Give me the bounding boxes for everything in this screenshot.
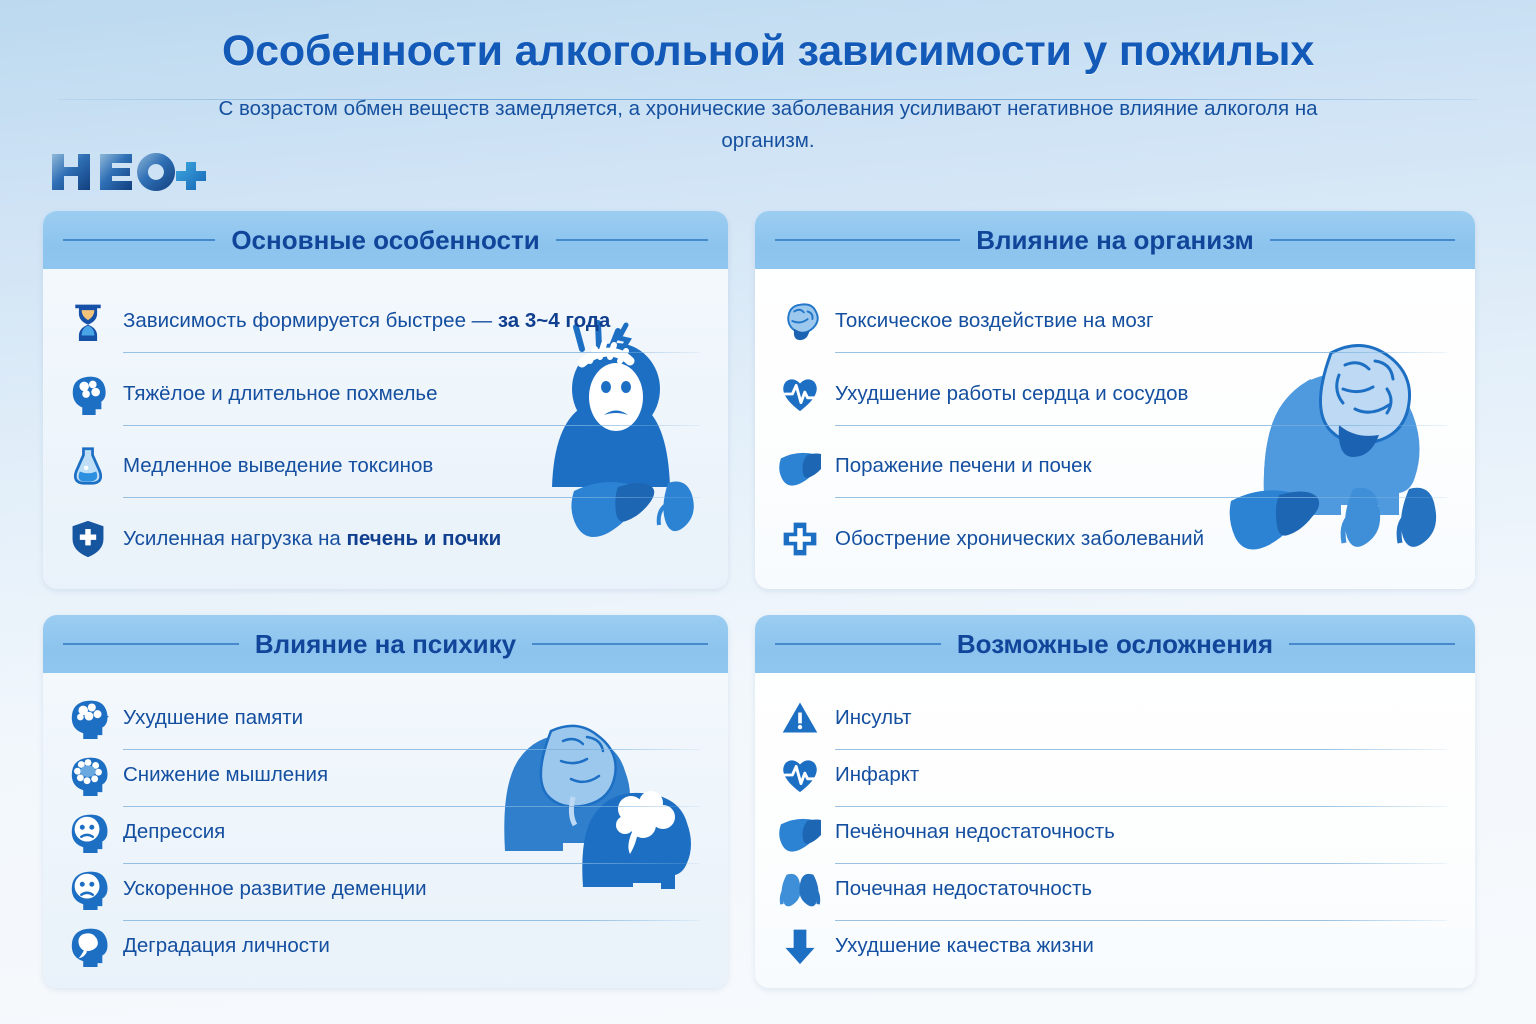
card-body: Ухудшение памяти Снижение мышления bbox=[43, 673, 728, 988]
kidneys-icon bbox=[777, 866, 823, 912]
list-item[interactable]: Депрессия bbox=[65, 804, 706, 860]
list-item-label: Ухудшение памяти bbox=[123, 705, 303, 731]
card-title: Влияние на психику bbox=[255, 629, 516, 660]
list-item[interactable]: Снижение мышления bbox=[65, 747, 706, 803]
list-item-label: Ухудшение качества жизни bbox=[835, 933, 1094, 959]
card-body-impact: Влияние на организм bbox=[755, 211, 1475, 589]
head-thinking-icon bbox=[65, 752, 111, 798]
card-title: Основные особенности bbox=[231, 225, 539, 256]
list-item-label: Медленное выведение токсинов bbox=[123, 453, 433, 479]
hourglass-icon bbox=[65, 298, 111, 344]
card-title: Возможные осложнения bbox=[957, 629, 1273, 660]
header-rule-right bbox=[1270, 239, 1455, 241]
warning-icon bbox=[777, 695, 823, 741]
head-sad-icon bbox=[65, 809, 111, 855]
list-item[interactable]: Ухудшение памяти bbox=[65, 690, 706, 746]
head-hangover-icon bbox=[65, 371, 111, 417]
list-item[interactable]: Печёночная недостаточность bbox=[777, 804, 1453, 860]
card-header: Влияние на организм bbox=[755, 211, 1475, 269]
heart-pulse-icon bbox=[777, 371, 823, 417]
list-item-label: Инсульт bbox=[835, 705, 912, 731]
card-header: Возможные осложнения bbox=[755, 615, 1475, 673]
list-item[interactable]: Ухудшение работы сердца и сосудов bbox=[777, 366, 1453, 422]
flask-icon bbox=[65, 443, 111, 489]
list-item-label: Обострение хронических заболеваний bbox=[835, 526, 1204, 552]
page-subtitle: С возрастом обмен веществ замедляется, а… bbox=[178, 93, 1358, 157]
head-degradation-icon bbox=[65, 923, 111, 969]
list-item-label: Ускоренное развитие деменции bbox=[123, 876, 427, 902]
list-item-label: Снижение мышления bbox=[123, 762, 328, 788]
card-psyche-impact: Влияние на психику bbox=[43, 615, 728, 988]
list-item[interactable]: Ухудшение качества жизни bbox=[777, 918, 1453, 974]
liver-icon bbox=[777, 443, 823, 489]
list-item[interactable]: Ускоренное развитие деменции bbox=[65, 861, 706, 917]
head-dementia-icon bbox=[65, 866, 111, 912]
list-item[interactable]: Инсульт bbox=[777, 690, 1453, 746]
header-rule-left bbox=[63, 643, 239, 645]
list-item[interactable]: Зависимость формируется быстрее — за 3~4… bbox=[65, 293, 706, 349]
row-divider bbox=[835, 352, 1447, 353]
list-item[interactable]: Обострение хронических заболеваний bbox=[777, 511, 1453, 567]
row-divider bbox=[835, 425, 1447, 426]
liver-icon bbox=[777, 809, 823, 855]
list-item[interactable]: Тяжёлое и длительное похмелье bbox=[65, 366, 706, 422]
list-item-label: Усиленная нагрузка на печень и почки bbox=[123, 526, 501, 552]
list-item-label: Почечная недостаточность bbox=[835, 876, 1092, 902]
cross-icon bbox=[777, 516, 823, 562]
list-item-label: Ухудшение работы сердца и сосудов bbox=[835, 381, 1188, 407]
header-rule-right bbox=[532, 643, 708, 645]
header-rule-left bbox=[63, 239, 215, 241]
header-rule-left bbox=[775, 643, 941, 645]
cards-grid: Основные особенности bbox=[43, 211, 1475, 1001]
heart-pulse-icon bbox=[777, 752, 823, 798]
card-body: Токсическое воздействие на мозг Ухудшени… bbox=[755, 269, 1475, 589]
card-main-features: Основные особенности bbox=[43, 211, 728, 589]
row-divider bbox=[123, 425, 700, 426]
list-item-label: Токсическое воздействие на мозг bbox=[835, 308, 1153, 334]
list-item-label: Зависимость формируется быстрее — за 3~4… bbox=[123, 308, 610, 334]
neo-logo-icon bbox=[46, 146, 206, 198]
list-item[interactable]: Деградация личности bbox=[65, 918, 706, 974]
head-memory-icon bbox=[65, 695, 111, 741]
neo-logo bbox=[46, 146, 206, 198]
title-divider bbox=[58, 99, 1478, 100]
list-item[interactable]: Поражение печени и почек bbox=[777, 438, 1453, 494]
list-item[interactable]: Токсическое воздействие на мозг bbox=[777, 293, 1453, 349]
page-title: Особенности алкогольной зависимости у по… bbox=[0, 0, 1536, 75]
card-body: Инсульт Инфаркт bbox=[755, 673, 1475, 988]
list-item[interactable]: Медленное выведение токсинов bbox=[65, 438, 706, 494]
header-rule-right bbox=[556, 239, 708, 241]
list-item[interactable]: Почечная недостаточность bbox=[777, 861, 1453, 917]
card-possible-complications: Возможные осложнения Инсульт bbox=[755, 615, 1475, 988]
list-item[interactable]: Усиленная нагрузка на печень и почки bbox=[65, 511, 706, 567]
header-rule-right bbox=[1289, 643, 1455, 645]
list-item-label: Тяжёлое и длительное похмелье bbox=[123, 381, 438, 407]
card-title: Влияние на организм bbox=[976, 225, 1253, 256]
list-item-label: Поражение печени и почек bbox=[835, 453, 1092, 479]
list-item-label: Депрессия bbox=[123, 819, 225, 845]
list-item[interactable]: Инфаркт bbox=[777, 747, 1453, 803]
list-item-label: Инфаркт bbox=[835, 762, 919, 788]
row-divider bbox=[123, 497, 700, 498]
row-divider bbox=[835, 497, 1447, 498]
card-header: Основные особенности bbox=[43, 211, 728, 269]
row-divider bbox=[123, 352, 700, 353]
brain-icon bbox=[777, 298, 823, 344]
card-body: Зависимость формируется быстрее — за 3~4… bbox=[43, 269, 728, 589]
shield-cross-icon bbox=[65, 516, 111, 562]
down-arrow-icon bbox=[777, 923, 823, 969]
list-item-label: Печёночная недостаточность bbox=[835, 819, 1115, 845]
header-rule-left bbox=[775, 239, 960, 241]
card-header: Влияние на психику bbox=[43, 615, 728, 673]
list-item-label: Деградация личности bbox=[123, 933, 330, 959]
